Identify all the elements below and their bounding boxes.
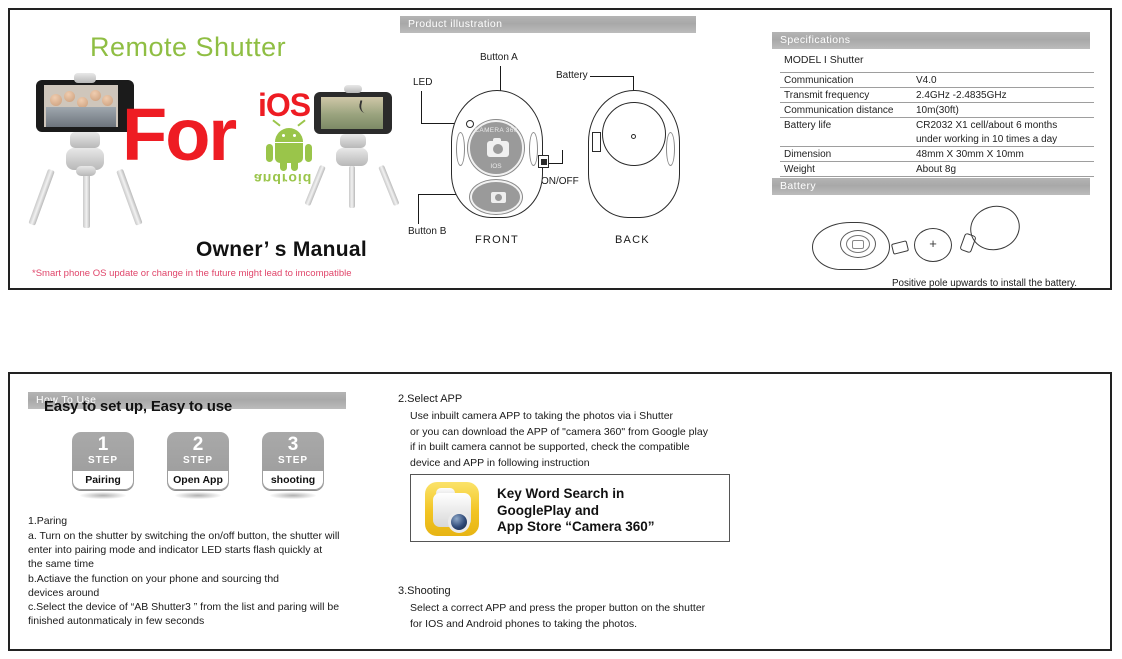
howto-tagline: Easy to set up, Easy to use <box>44 398 232 415</box>
android-robot-icon <box>266 120 312 166</box>
step-number: 3 <box>262 432 324 455</box>
step-label: Open App <box>168 471 228 489</box>
leader-b-v <box>418 194 419 224</box>
spec-key: Dimension <box>780 147 912 162</box>
spec-key: Communication <box>780 73 912 88</box>
spec-key: Communication distance <box>780 103 912 118</box>
step-word: STEP <box>167 455 229 467</box>
table-row: Battery life CR2032 X1 cell/about 6 mont… <box>780 118 1094 133</box>
caption-front: FRONT <box>475 234 519 246</box>
shooting-title: 3.Shooting <box>398 584 451 598</box>
table-row: Communication V4.0 <box>780 73 1094 88</box>
tripod-android-illustration <box>308 88 396 206</box>
camera360-app-icon <box>425 482 479 536</box>
table-row: Dimension 48mm X 30mm X 10mm <box>780 147 1094 162</box>
battery-cover-lid <box>965 200 1025 256</box>
spec-value: 2.4GHz -2.4835GHz <box>912 88 1094 103</box>
owners-manual-title: Owner’ s Manual <box>196 238 367 262</box>
table-row: Transmit frequency 2.4GHz -2.4835GHz <box>780 88 1094 103</box>
step-shadow-1 <box>80 492 126 499</box>
step-badge-2: 2 STEP Open App <box>167 432 229 490</box>
button-a-bottom-label: IOS <box>470 163 522 170</box>
camera-icon-small <box>491 192 506 203</box>
selectapp-body: Use inbuilt camera APP to taking the pho… <box>410 409 750 471</box>
button-b[interactable] <box>470 180 522 214</box>
bottom-panel: How To Use Easy to set up, Easy to use 1… <box>8 372 1112 651</box>
button-a-top-label: CAMERA 360 <box>470 127 522 134</box>
spec-value: CR2032 X1 cell/about 6 months <box>912 118 1094 133</box>
spec-value: 10m(30ft) <box>912 103 1094 118</box>
shutter-front-side-left <box>456 132 465 166</box>
coin-battery: + <box>914 228 952 262</box>
camera360-callout-box: Key Word Search in GooglePlay and App St… <box>410 474 730 542</box>
step-label: shooting <box>263 471 323 489</box>
label-battery: Battery <box>556 70 588 81</box>
spec-value: V4.0 <box>912 73 1094 88</box>
leader-led-v <box>421 91 422 123</box>
shutter-back-side-left <box>592 132 601 152</box>
caption-back: BACK <box>615 234 650 246</box>
page-title: Remote Shutter <box>90 32 286 63</box>
camera360-callout-text: Key Word Search in GooglePlay and App St… <box>497 486 655 536</box>
table-row: under working in 10 times a day <box>780 132 1094 147</box>
specifications-table: Communication V4.0 Transmit frequency 2.… <box>780 72 1094 177</box>
battery-install-illustration: + <box>812 204 1062 274</box>
shutter-front-side-right <box>529 132 538 166</box>
spec-value: 48mm X 30mm X 10mm <box>912 147 1094 162</box>
label-led: LED <box>413 77 432 88</box>
specifications-bar: Specifications <box>772 32 1090 49</box>
cover-for-text: For <box>122 102 235 169</box>
battery-tab <box>891 240 909 255</box>
pairing-title: 1.Paring <box>28 514 67 528</box>
label-button-b: Button B <box>408 226 446 237</box>
table-row: Weight About 8g <box>780 162 1094 177</box>
table-row: Communication distance 10m(30ft) <box>780 103 1094 118</box>
onoff-switch[interactable] <box>538 155 549 168</box>
button-a[interactable]: CAMERA 360 IOS <box>468 120 524 176</box>
step-number: 1 <box>72 432 134 455</box>
manual-page: Remote Shutter <box>0 0 1122 659</box>
pairing-steps: a. Turn on the shutter by switching the … <box>28 529 368 628</box>
spec-value: under working in 10 times a day <box>912 132 1094 147</box>
step-shadow-2 <box>175 492 221 499</box>
leader-batt-h <box>590 76 634 77</box>
battery-polarity-label: + <box>915 236 951 251</box>
label-button-a: Button A <box>480 52 518 63</box>
spec-key: Transmit frequency <box>780 88 912 103</box>
spec-model-line: MODEL I Shutter <box>784 54 864 66</box>
top-panel: Remote Shutter <box>8 8 1112 290</box>
battery-bar: Battery <box>772 178 1090 195</box>
compatibility-footnote: *Smart phone OS update or change in the … <box>32 268 352 279</box>
android-logo-text: android <box>254 171 312 187</box>
camera-icon <box>487 141 509 157</box>
label-onoff: ON/OFF <box>541 176 579 187</box>
spec-key: Weight <box>780 162 912 177</box>
shooting-body: Select a correct APP and press the prope… <box>410 601 750 632</box>
step-badge-1: 1 STEP Pairing <box>72 432 134 490</box>
battery-cover-center-dot <box>631 134 636 139</box>
shutter-back-side-right <box>666 132 675 166</box>
battery-caption: Positive pole upwards to install the bat… <box>892 278 1077 289</box>
step-label: Pairing <box>73 471 133 489</box>
step-shadow-3 <box>270 492 316 499</box>
step-word: STEP <box>72 455 134 467</box>
ios-logo-text: iOS <box>258 87 310 124</box>
spec-key: Battery life <box>780 118 912 133</box>
selectapp-title: 2.Select APP <box>398 392 462 406</box>
leader-onoff-v <box>562 150 563 164</box>
battery-hinge <box>959 232 976 253</box>
step-badge-3: 3 STEP shooting <box>262 432 324 490</box>
spec-key <box>780 132 912 147</box>
step-number: 2 <box>167 432 229 455</box>
spec-value: About 8g <box>912 162 1094 177</box>
step-word: STEP <box>262 455 324 467</box>
